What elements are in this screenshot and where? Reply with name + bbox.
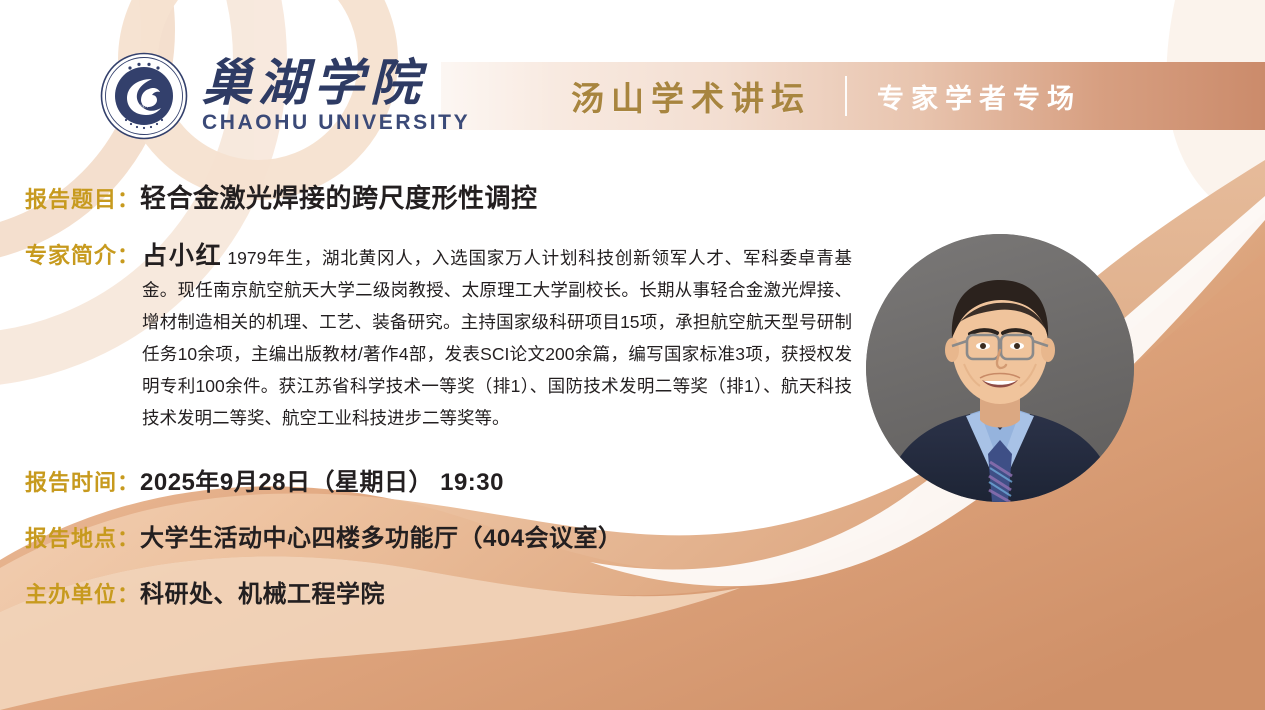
university-name-en: CHAOHU UNIVERSITY [202,111,470,135]
speaker-portrait [866,234,1134,502]
host-value: 科研处、机械工程学院 [140,574,385,609]
seal-year: 1977 [139,105,150,110]
time-label: 报告时间： [25,465,140,497]
row-host: 主办单位： 科研处、机械工程学院 [25,574,385,609]
title-label: 报告题目： [25,182,140,214]
university-name-block: 巢湖学院 CHAOHU UNIVERSITY [202,57,470,136]
page-title: 轻合金激光焊接的跨尺度形性调控 [140,178,538,215]
portrait-illustration [866,234,1134,502]
row-title: 报告题目： 轻合金激光焊接的跨尺度形性调控 [25,178,538,215]
bio-body: 1979年生，湖北黄冈人，入选国家万人计划科技创新领军人才、军科委卓青基金。现任… [142,248,852,428]
bio-label: 专家简介： [25,240,140,272]
row-place: 报告地点： 大学生活动中心四楼多功能厅（404会议室） [25,518,623,553]
place-value: 大学生活动中心四楼多功能厅（404会议室） [140,518,623,553]
host-label: 主办单位： [25,577,140,609]
university-name-cn: 巢湖学院 [202,57,470,110]
university-seal-icon: 1977 [100,52,188,140]
university-logo-block: 1977 巢湖学院 CHAOHU UNIVERSITY [100,52,470,140]
seminar-poster: 汤山学术讲坛 专家学者专场 1977 [0,0,1265,710]
speaker-name: 占小红 [142,242,222,270]
place-label: 报告地点： [25,521,140,553]
time-value: 2025年9月28日（星期日） 19:30 [140,462,504,497]
row-time: 报告时间： 2025年9月28日（星期日） 19:30 [25,462,504,497]
bio-paragraph: 占小红1979年生，湖北黄冈人，入选国家万人计划科技创新领军人才、军科委卓青基金… [142,240,852,434]
row-biography: 专家简介： 占小红1979年生，湖北黄冈人，入选国家万人计划科技创新领军人才、军… [25,240,880,434]
